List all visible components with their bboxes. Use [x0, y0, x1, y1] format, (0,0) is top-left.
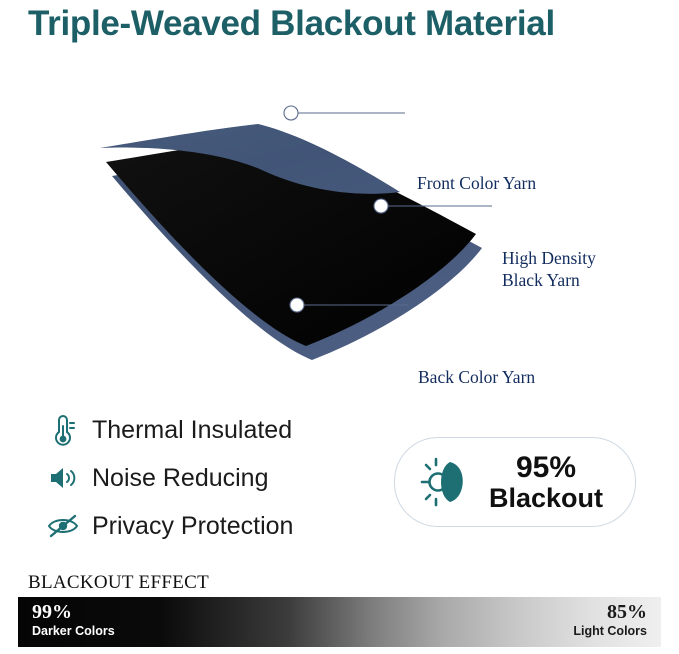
callout-label-high-line1: High Density	[502, 248, 596, 268]
blackout-percent: 95%	[516, 452, 576, 484]
page-title: Triple-Weaved Blackout Material	[28, 4, 658, 44]
bar-right-percent: 85%	[573, 602, 647, 623]
bar-right-caption: Light Colors	[573, 623, 647, 639]
fabric-layers-diagram: Front Color Yarn High Density Black Yarn…	[0, 70, 679, 360]
blackout-word: Blackout	[489, 484, 603, 512]
bar-left-caption: Darker Colors	[32, 623, 115, 639]
blackout-badge: 95% Blackout	[394, 437, 636, 527]
thermometer-icon	[46, 413, 80, 447]
feature-label-privacy: Privacy Protection	[92, 512, 293, 541]
blackout-effect-bar: 99% Darker Colors 85% Light Colors	[18, 597, 661, 647]
feature-label-noise: Noise Reducing	[92, 464, 269, 493]
callout-label-back-color-yarn: Back Color Yarn	[418, 367, 535, 389]
bar-left-group: 99% Darker Colors	[32, 602, 115, 639]
sun-blocked-icon	[417, 453, 475, 511]
eye-slash-icon	[46, 509, 80, 543]
bar-left-percent: 99%	[32, 602, 115, 623]
blackout-effect-title: BLACKOUT EFFECT	[28, 572, 209, 594]
feature-item-privacy: Privacy Protection	[46, 504, 376, 548]
feature-list: Thermal Insulated Noise Reducing	[46, 408, 376, 552]
callout-label-high-density-black-yarn: High Density Black Yarn	[502, 248, 596, 292]
bar-right-group: 85% Light Colors	[573, 602, 647, 639]
feature-item-thermal: Thermal Insulated	[46, 408, 376, 452]
callout-label-high-line2: Black Yarn	[502, 270, 580, 290]
feature-item-noise: Noise Reducing	[46, 456, 376, 500]
callout-label-front-color-yarn: Front Color Yarn	[417, 173, 536, 195]
speaker-sound-icon	[46, 461, 80, 495]
product-infographic: Triple-Weaved Blackout Material	[0, 0, 679, 654]
blackout-badge-text: 95% Blackout	[489, 452, 603, 512]
feature-label-thermal: Thermal Insulated	[92, 416, 292, 445]
